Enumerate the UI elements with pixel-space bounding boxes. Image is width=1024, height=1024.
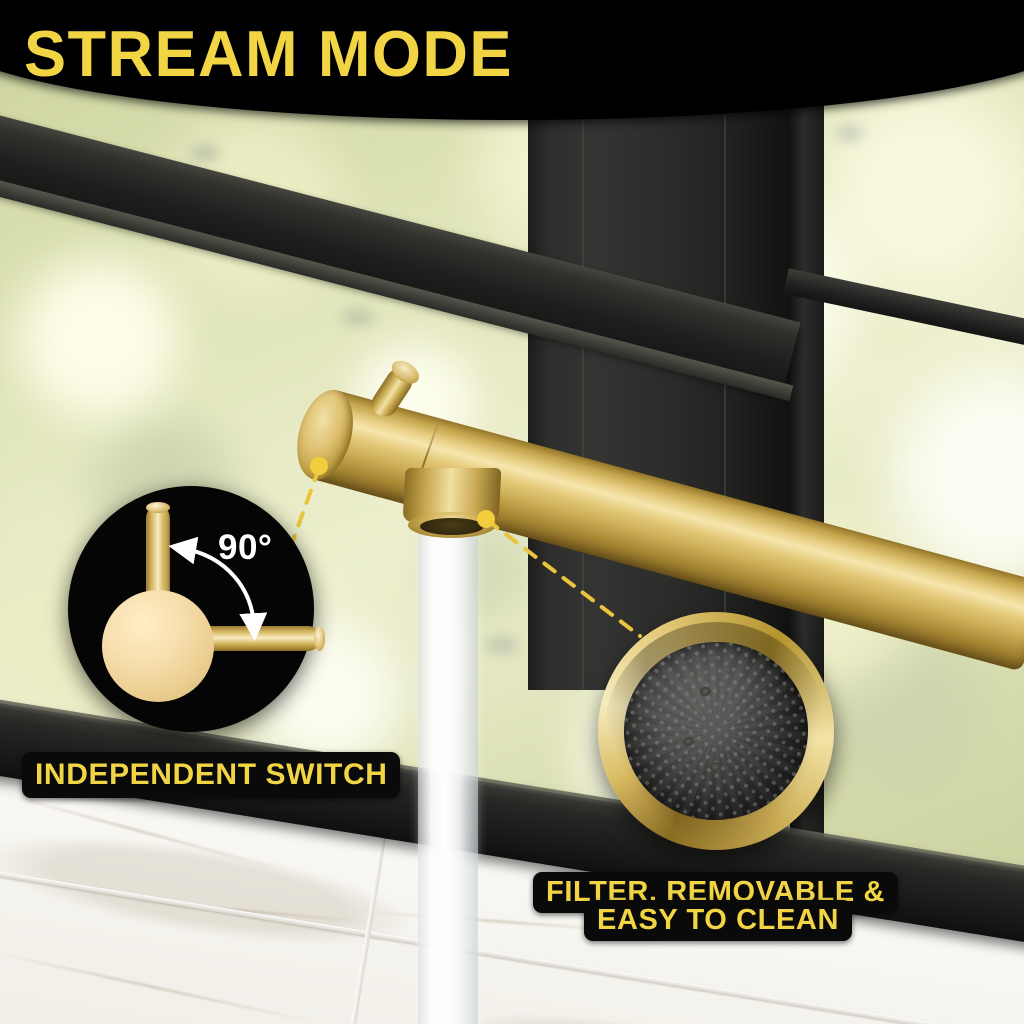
- collar-aperture: [420, 518, 484, 535]
- independent-switch-callout-circle: 90°: [68, 486, 314, 732]
- filter-mesh-screen: [615, 633, 817, 829]
- switch-lever-horizontal-cap: [314, 626, 325, 651]
- product-feature-image: 90° STREAM MODE INDEPENDENT SWITCH FILTE…: [0, 0, 1024, 1024]
- angle-label: 90°: [218, 528, 272, 568]
- page-title: STREAM MODE: [24, 16, 513, 91]
- angle-arrow-arc: [68, 486, 314, 732]
- spout-outlet-collar: [404, 468, 500, 534]
- label-independent-switch: INDEPENDENT SWITCH: [22, 752, 400, 798]
- label-filter-line2: EASY TO CLEAN: [584, 900, 852, 941]
- water-stream: [418, 500, 478, 1024]
- filter-aerator: [586, 600, 846, 861]
